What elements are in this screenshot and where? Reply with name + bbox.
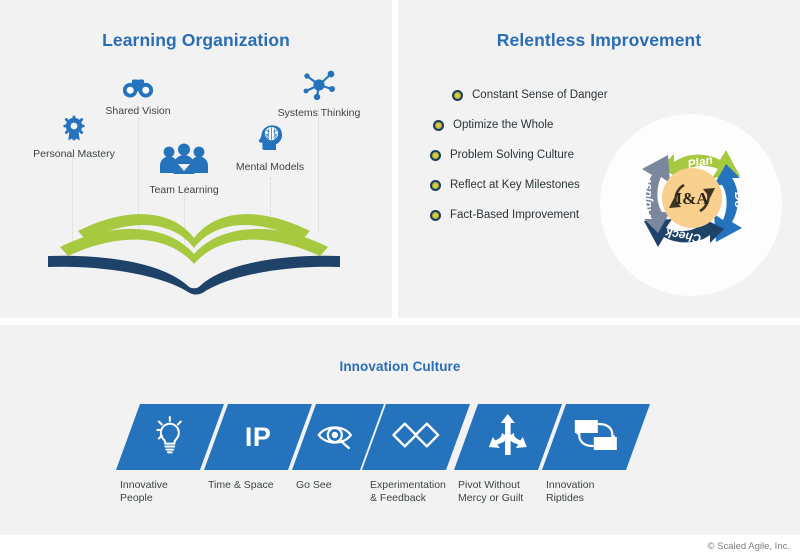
pdca-label-do: Do (732, 192, 746, 208)
people-group-icon (132, 143, 236, 182)
innovation-cell-innovative-people[interactable]: Innovative People (118, 404, 214, 505)
list-item-label: Problem Solving Culture (450, 148, 574, 162)
node-label: Team Learning (132, 184, 236, 196)
pdca-center-label: I&A (675, 189, 709, 208)
innovation-cell-label: Innovation Riptides (544, 479, 640, 505)
gear-rosette-icon (14, 115, 134, 146)
page-title-relentless-improvement: Relentless Improvement (398, 30, 800, 51)
parallelogram-tile (542, 404, 650, 470)
parallelogram-tile (362, 404, 470, 470)
innovation-cell-innovation-riptides[interactable]: Innovation Riptides (544, 404, 640, 505)
copyright-notice: © Scaled Agile, Inc. (707, 541, 790, 552)
panel-learning-organization: Learning Organization (0, 0, 392, 318)
list-item-label: Constant Sense of Danger (472, 88, 608, 102)
lightbulb-icon (151, 415, 189, 460)
head-brain-icon (222, 124, 318, 159)
bullet-icon (452, 90, 463, 101)
innovation-culture-row: Innovative People IP Time & Space (118, 404, 698, 522)
node-personal-mastery[interactable]: Personal Mastery (14, 115, 134, 160)
ip-text-icon: IP (245, 422, 272, 453)
bullet-icon (430, 210, 441, 221)
pdca-cycle-diagram[interactable]: Plan Do Check Adjust I&A (622, 128, 762, 273)
infographic-root: Learning Organization (0, 0, 800, 560)
list-item[interactable]: Constant Sense of Danger (402, 80, 652, 110)
node-label: Personal Mastery (14, 148, 134, 160)
node-mental-models[interactable]: Mental Models (222, 124, 318, 173)
list-item-label: Fact-Based Improvement (450, 208, 579, 222)
innovation-cell-label: Experimentation & Feedback (368, 479, 464, 505)
binoculars-icon (86, 78, 190, 103)
innovation-cell-label: Innovative People (118, 479, 214, 505)
innovation-cell-label: Pivot Without Mercy or Guilt (456, 479, 552, 505)
innovation-cell-experimentation-feedback[interactable]: Experimentation & Feedback (368, 404, 464, 505)
page-title-innovation-culture: Innovation Culture (0, 359, 800, 374)
three-way-arrow-icon (488, 414, 528, 461)
node-team-learning[interactable]: Team Learning (132, 143, 236, 196)
pdca-label-adjust: Adjust (640, 178, 654, 217)
cycle-rectangles-icon (572, 416, 620, 459)
node-label: Mental Models (222, 161, 318, 173)
network-nodes-icon (264, 70, 374, 105)
innovation-cell-pivot-without-mercy-or-guilt[interactable]: Pivot Without Mercy or Guilt (456, 404, 552, 505)
node-systems-thinking[interactable]: Systems Thinking (264, 70, 374, 119)
list-item-label: Reflect at Key Milestones (450, 178, 580, 192)
node-shared-vision[interactable]: Shared Vision (86, 78, 190, 117)
innovation-cell-label: Time & Space (206, 479, 302, 492)
bullet-icon (433, 120, 444, 131)
node-label: Systems Thinking (264, 107, 374, 119)
open-book-icon (40, 204, 352, 301)
eye-magnifier-icon (315, 419, 361, 456)
bullet-icon (430, 150, 441, 161)
list-item[interactable]: Optimize the Whole (402, 110, 652, 140)
two-diamonds-icon (390, 420, 442, 455)
innovation-cell-time-and-space[interactable]: IP Time & Space (206, 404, 302, 492)
bullet-icon (430, 180, 441, 191)
list-item-label: Optimize the Whole (453, 118, 553, 132)
node-label: Shared Vision (86, 105, 190, 117)
page-title-learning-organization: Learning Organization (0, 30, 392, 51)
